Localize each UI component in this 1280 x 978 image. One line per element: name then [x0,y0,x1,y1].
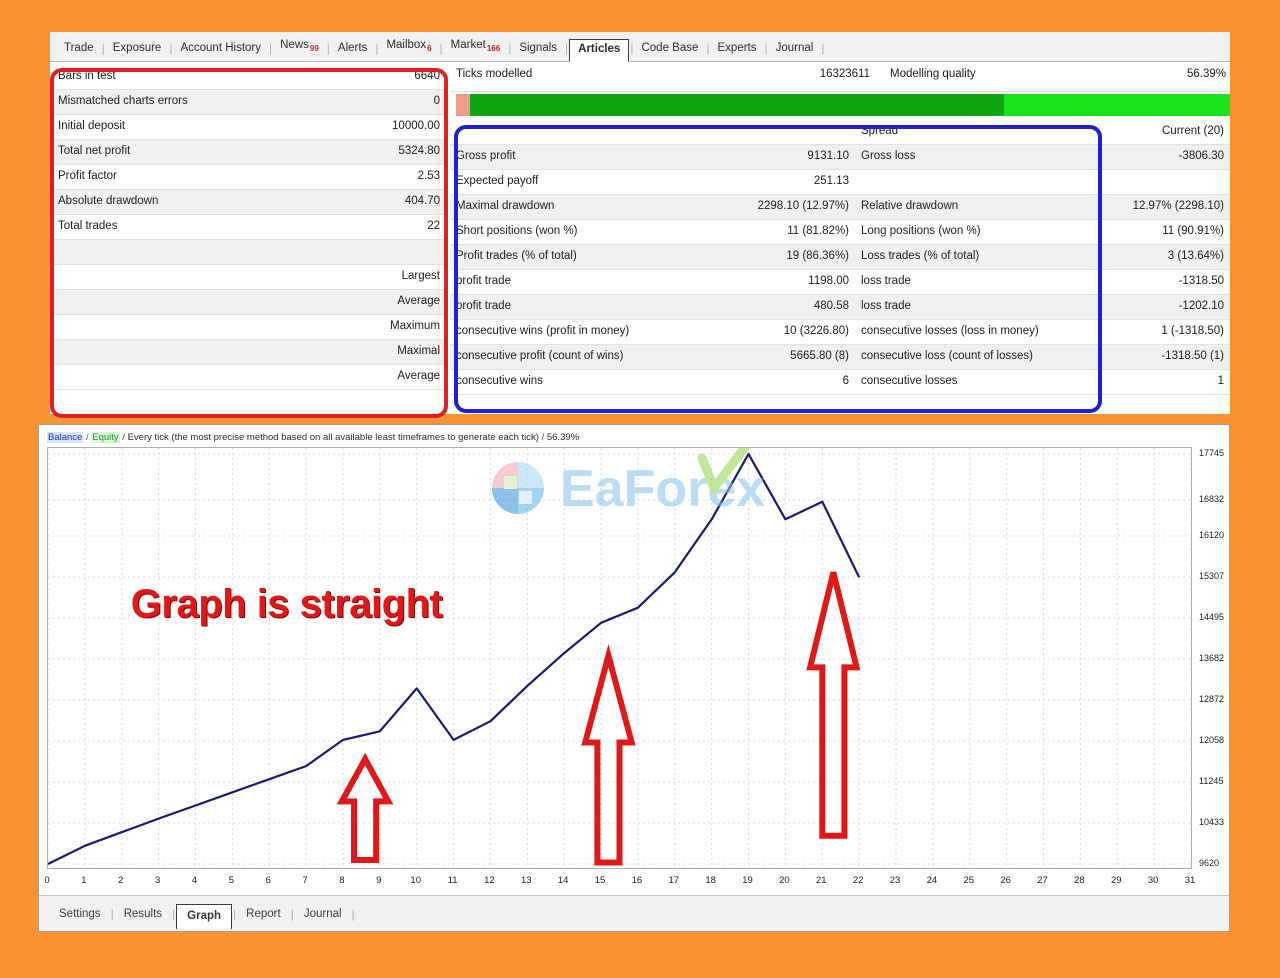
modelling-quality-value: 56.39% [1187,68,1226,80]
metric-value-right: -3806.30 [1055,144,1230,169]
table-row: Maximum [52,314,446,339]
table-row: Gross profit9131.10Gross loss-3806.30 [450,144,1230,169]
table-row: consecutive profit (count of wins)5665.8… [450,344,1230,369]
spread-stats-table: SpreadCurrent (20)Gross profit9131.10Gro… [450,119,1230,395]
quality-bar-dark-green-segment [470,94,1004,116]
modelling-quality-label: Modelling quality [890,68,976,80]
stat-value [249,239,446,264]
table-row: Total trades22 [52,214,446,239]
tab-label: Signals [519,42,557,54]
tab-articles[interactable]: Articles [569,39,629,62]
metric-label-left: Maximal drawdown [450,194,680,219]
tab-label: Articles [578,43,620,55]
y-axis-tick-label: 17745 [1199,448,1224,458]
tab-code-base[interactable]: Code Base [634,39,705,59]
x-axis-tick-label: 6 [266,875,271,886]
tab-separator: | [440,41,443,59]
metric-value-right: 11 (90.91%) [1055,219,1230,244]
tab-separator: | [233,907,236,921]
stat-label: Bars in test [52,64,249,89]
table-row [52,239,446,264]
metric-value-right: 12.97% (2298.10) [1055,194,1230,219]
table-row: Profit factor2.53 [52,164,446,189]
stat-label: Total trades [52,214,249,239]
spread-header-row: SpreadCurrent (20) [450,119,1230,144]
bottom-tab-settings[interactable]: Settings [50,904,110,924]
detailed-stats-block: Ticks modelled 16323611 Modelling qualit… [450,62,1230,414]
metric-value-right: 1 [1055,369,1230,394]
tab-label: Account History [180,42,261,54]
metric-value-left: 9131.10 [680,144,855,169]
bottom-tab-strip: Settings|Results|Graph|Report|Journal| [39,895,1229,931]
stat-value: 2.53 [249,164,446,189]
tab-label: Mailbox [386,39,426,51]
x-axis-tick-label: 20 [779,875,790,886]
metric-label-right: Long positions (won %) [855,219,1055,244]
metric-label-right: loss trade [855,269,1055,294]
y-axis-tick-label: 9620 [1199,858,1219,868]
metric-label-right: Loss trades (% of total) [855,244,1055,269]
x-axis-tick-label: 26 [1000,875,1011,886]
spread-table-wrapper: SpreadCurrent (20)Gross profit9131.10Gro… [450,119,1230,395]
tab-badge: 6 [427,44,431,53]
metric-value-left: 5665.80 (8) [680,344,855,369]
metric-label-left: Gross profit [450,144,680,169]
x-axis-tick-label: 4 [192,875,197,886]
stat-label [52,239,249,264]
tab-separator: | [565,41,568,59]
metric-value-right: -1318.50 [1055,269,1230,294]
stat-label: Profit factor [52,164,249,189]
tab-separator: | [172,907,175,921]
tab-label: Experts [718,42,757,54]
metric-value-left: 19 (86.36%) [680,244,855,269]
table-row: Mismatched charts errors0 [52,89,446,114]
x-axis-tick-label: 10 [410,875,421,886]
metric-label-left: profit trade [450,294,680,319]
red-up-arrow-icon [585,656,631,863]
y-axis-tick-label: 10433 [1199,817,1224,827]
tab-separator: | [630,41,633,59]
quality-bar-pink-segment [456,94,470,116]
stat-value: 5324.80 [249,139,446,164]
chart-y-axis: 1774516832161201530714495136821287212058… [1193,447,1241,887]
metric-label-right: Relative drawdown [855,194,1055,219]
metric-value-right: -1202.10 [1055,294,1230,319]
stat-value: Average [249,289,446,314]
y-axis-tick-label: 16120 [1199,530,1224,540]
y-axis-tick-label: 13682 [1199,653,1224,663]
x-axis-tick-label: 16 [632,875,643,886]
x-axis-tick-label: 8 [339,875,344,886]
x-axis-tick-label: 28 [1074,875,1085,886]
tab-alerts[interactable]: Alerts [331,39,374,59]
metric-value-left: 480.58 [680,294,855,319]
table-row: Average [52,364,446,389]
y-axis-tick-label: 11245 [1199,776,1223,786]
table-row: Maximal drawdown2298.10 (12.97%)Relative… [450,194,1230,219]
y-axis-tick-label: 12058 [1199,735,1224,745]
stat-value: 404.70 [249,189,446,214]
stat-label [52,264,249,289]
bottom-tab-journal[interactable]: Journal [295,904,351,924]
tab-signals[interactable]: Signals [512,39,564,59]
legend-equity: Equity [91,432,119,443]
metric-value-right [1055,169,1230,194]
tab-separator: | [291,907,294,921]
tab-badge: 166 [487,44,500,53]
x-axis-tick-label: 24 [927,875,938,886]
legend-balance: Balance [47,432,83,443]
metric-label-left: Short positions (won %) [450,219,680,244]
tab-separator: | [821,41,824,59]
metric-value-right: 3 (13.64%) [1055,244,1230,269]
x-axis-tick-label: 7 [302,875,307,886]
table-row: Maximal [52,339,446,364]
x-axis-tick-label: 1 [81,875,86,886]
tab-separator: | [102,41,105,59]
table-row: consecutive wins (profit in money)10 (32… [450,319,1230,344]
x-axis-tick-label: 17 [669,875,680,886]
balance-equity-line-chart [48,448,1191,868]
summary-stats-rows: Bars in test6640Mismatched charts errors… [52,64,446,390]
tab-mailbox[interactable]: Mailbox6 [379,36,438,59]
metric-label-right: consecutive losses (loss in money) [855,319,1055,344]
report-panel: Trade|Exposure|Account History|News99|Al… [50,32,1230,414]
graph-panel: Balance / Equity / Every tick (the most … [38,424,1230,932]
tab-separator: | [169,41,172,59]
bottom-tab-report[interactable]: Report [237,904,290,924]
quality-bar-light-green-segment [1004,94,1230,116]
tab-account-history[interactable]: Account History [173,39,268,59]
metric-value-left: 10 (3226.80) [680,319,855,344]
ticks-modelled-value: 16323611 [750,68,870,80]
stat-label: Initial deposit [52,114,249,139]
stat-value: Maximum [249,314,446,339]
table-row: profit trade480.58loss trade-1202.10 [450,294,1230,319]
report-body: Bars in test6640Mismatched charts errors… [50,62,1230,414]
x-axis-tick-label: 13 [521,875,532,886]
x-axis-tick-label: 23 [890,875,901,886]
tab-separator: | [706,41,709,59]
metric-value-left: 6 [680,369,855,394]
y-axis-tick-label: 12872 [1199,694,1224,704]
blank-cell [450,119,680,144]
metric-value-left: 2298.10 (12.97%) [680,194,855,219]
x-axis-tick-label: 12 [484,875,495,886]
metric-label-left: consecutive profit (count of wins) [450,344,680,369]
tab-badge: 99 [310,44,319,53]
x-axis-tick-label: 31 [1185,875,1196,886]
tab-label: News [280,39,309,51]
stat-label: Total net profit [52,139,249,164]
stat-label: Mismatched charts errors [52,89,249,114]
metric-label-left: Expected payoff [450,169,680,194]
table-row: Profit trades (% of total)19 (86.36%)Los… [450,244,1230,269]
stat-value: 10000.00 [249,114,446,139]
tab-label: Market [451,39,486,51]
x-axis-tick-label: 11 [448,875,458,886]
y-axis-tick-label: 15307 [1199,571,1224,581]
table-row: consecutive wins6consecutive losses1 [450,369,1230,394]
stat-value: Maximal [249,339,446,364]
table-row: Total net profit5324.80 [52,139,446,164]
tab-market[interactable]: Market166 [444,36,508,59]
modelling-quality-bar [456,94,1230,116]
stat-value: 6640 [249,64,446,89]
stat-label [52,339,249,364]
tab-trade[interactable]: Trade [57,39,101,59]
ticks-modelled-label: Ticks modelled [456,68,532,80]
x-axis-tick-label: 9 [376,875,381,886]
table-row: Average [52,289,446,314]
modelling-header: Ticks modelled 16323611 Modelling qualit… [450,62,1230,92]
y-axis-tick-label: 14495 [1199,612,1224,622]
tab-separator: | [111,907,114,921]
metric-value-right: 1 (-1318.50) [1055,319,1230,344]
x-axis-tick-label: 19 [742,875,753,886]
metric-label-right: consecutive loss (count of losses) [855,344,1055,369]
legend-quality: 56.39% [547,432,579,443]
metric-value-left: 11 (81.82%) [680,219,855,244]
chart-arrow-annotations [342,572,857,862]
tab-separator: | [508,41,511,59]
x-axis-tick-label: 15 [595,875,606,886]
x-axis-tick-label: 3 [155,875,160,886]
stat-value: Largest [249,264,446,289]
metric-label-left: Profit trades (% of total) [450,244,680,269]
tab-journal[interactable]: Journal [769,39,821,59]
chart-x-axis: 0123456789101112131415161718192021222324… [47,871,1192,891]
table-row: profit trade1198.00loss trade-1318.50 [450,269,1230,294]
chart-area: Balance / Equity / Every tick (the most … [47,431,1223,897]
chart-legend: Balance / Equity / Every tick (the most … [47,431,579,445]
metric-label-right: consecutive losses [855,369,1055,394]
orange-page-frame: Trade|Exposure|Account History|News99|Al… [0,0,1280,978]
red-up-arrow-icon [342,759,388,860]
chart-plot-area: EaForex Graph is straight [47,447,1192,869]
tab-experts[interactable]: Experts [711,39,764,59]
stat-value: 22 [249,214,446,239]
tab-separator: | [375,41,378,59]
table-row: Initial deposit10000.00 [52,114,446,139]
metric-label-right: Gross loss [855,144,1055,169]
legend-method: Every tick (the most precise method base… [128,432,539,443]
x-axis-tick-label: 0 [44,875,49,886]
x-axis-tick-label: 30 [1148,875,1159,886]
stat-label [52,289,249,314]
x-axis-tick-label: 2 [118,875,123,886]
x-axis-tick-label: 29 [1111,875,1122,886]
metric-label-right: loss trade [855,294,1055,319]
metric-value-right: -1318.50 (1) [1055,344,1230,369]
x-axis-tick-label: 22 [853,875,864,886]
tab-label: Alerts [338,42,367,54]
x-axis-tick-label: 18 [705,875,716,886]
x-axis-tick-label: 14 [558,875,569,886]
x-axis-tick-label: 5 [229,875,234,886]
tab-news[interactable]: News99 [273,36,326,59]
table-row: Largest [52,264,446,289]
metric-label-left: consecutive wins [450,369,680,394]
x-axis-tick-label: 25 [963,875,974,886]
tab-separator: | [352,907,355,921]
x-axis-tick-label: 21 [816,875,827,886]
table-row: Short positions (won %)11 (81.82%)Long p… [450,219,1230,244]
metric-label-left: consecutive wins (profit in money) [450,319,680,344]
top-tab-strip: Trade|Exposure|Account History|News99|Al… [50,32,1230,62]
bottom-tab-graph[interactable]: Graph [176,904,232,929]
stat-label: Absolute drawdown [52,189,249,214]
tab-separator: | [765,41,768,59]
tab-label: Exposure [113,42,162,54]
y-axis-tick-label: 16832 [1199,494,1224,504]
tab-label: Code Base [641,42,698,54]
spread-value: Current (20) [1055,119,1230,144]
tab-separator: | [269,41,272,59]
tab-exposure[interactable]: Exposure [106,39,169,59]
stat-label [52,314,249,339]
table-row: Absolute drawdown404.70 [52,189,446,214]
spread-label: Spread [855,119,1055,144]
stat-value: Average [249,364,446,389]
table-row: Expected payoff251.13 [450,169,1230,194]
table-row: Bars in test6640 [52,64,446,89]
metric-value-left: 251.13 [680,169,855,194]
bottom-tab-results[interactable]: Results [115,904,171,924]
blank-cell [680,119,855,144]
tab-separator: | [327,41,330,59]
red-up-arrow-icon [810,572,856,835]
metric-label-right [855,169,1055,194]
metric-label-left: profit trade [450,269,680,294]
stat-label [52,364,249,389]
tab-label: Trade [64,42,94,54]
summary-stats-table: Bars in test6640Mismatched charts errors… [52,64,446,409]
stat-value: 0 [249,89,446,114]
metric-value-left: 1198.00 [680,269,855,294]
x-axis-tick-label: 27 [1037,875,1048,886]
tab-label: Journal [776,42,814,54]
